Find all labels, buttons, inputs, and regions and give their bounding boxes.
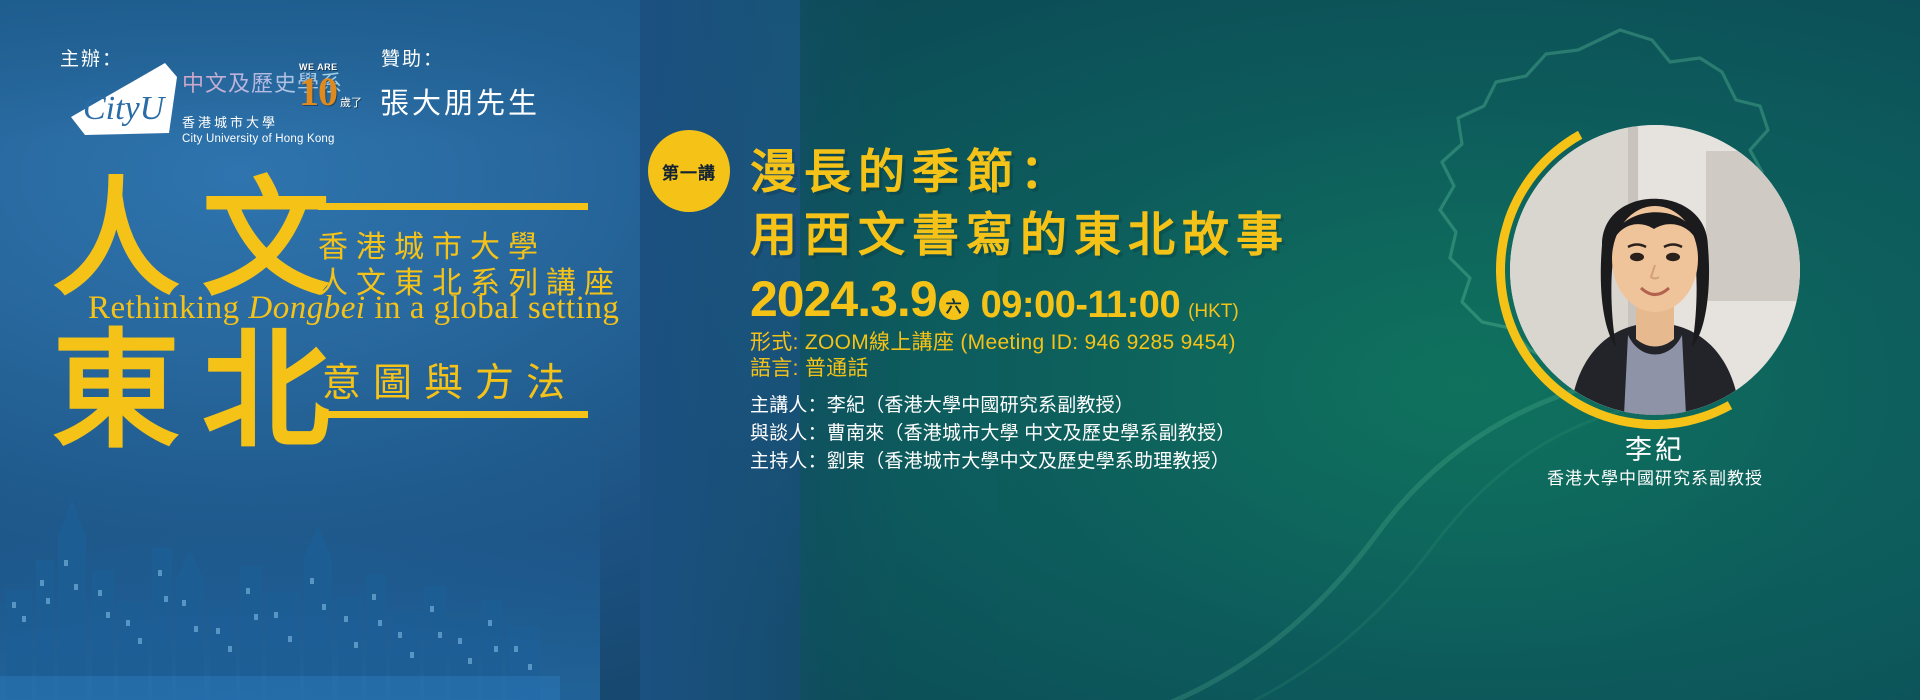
anniversary-number: 10 <box>299 68 337 115</box>
university-name-en: City University of Hong Kong <box>182 133 343 145</box>
event-date: 2024.3.9 <box>750 274 937 324</box>
series-rule-top <box>318 203 588 210</box>
subtitle-pre: Rethinking <box>88 290 248 326</box>
hong-kong-skyline-silhouette <box>0 440 560 700</box>
event-language-line: 語言: 普通話 <box>750 352 869 382</box>
sponsor-label: 贊助： <box>381 44 444 71</box>
event-time: 09:00-11:00 <box>981 286 1180 324</box>
promotional-banner: 主辦： 贊助： 張大朋先生 CityU 中文及歷史學系 香港城市大學 City … <box>0 0 1920 700</box>
cityu-logo-icon: CityU <box>65 55 185 140</box>
portrait-title: 香港大學中國研究系副教授 <box>1487 464 1823 489</box>
date-time-row: 2024.3.9 六 09:00-11:00 (HKT) <box>750 274 1239 324</box>
discussant-line: 與談人：曹南來（香港城市大學 中文及歷史學系副教授） <box>750 418 1235 445</box>
lecture-number-badge: 第一講 <box>648 130 730 212</box>
portrait-photo <box>1510 125 1800 415</box>
weekday-badge: 六 <box>939 290 969 320</box>
svg-text:CityU: CityU <box>83 90 167 127</box>
lecture-title-line2: 用西文書寫的東北故事 <box>750 196 1290 265</box>
method-line: 意圖與方法 <box>322 352 577 408</box>
lecture-number-badge-label: 第一講 <box>662 159 716 184</box>
lecture-title-line1: 漫長的季節： <box>750 133 1074 202</box>
portrait-name: 李紀 <box>1510 428 1800 467</box>
subtitle-italic: Dongbei <box>248 290 365 326</box>
calligraphy-title-line2: 東北 <box>52 328 352 456</box>
sponsor-name: 張大朋先生 <box>380 80 540 122</box>
portrait-circle <box>1510 125 1800 415</box>
speaker-portrait <box>1510 125 1800 415</box>
subtitle-post: in a global setting <box>366 290 620 326</box>
english-subtitle: Rethinking Dongbei in a global setting <box>88 290 619 327</box>
host-line: 主持人：劉東（香港城市大學中文及歷史學系助理教授） <box>750 446 1230 473</box>
series-rule-bottom <box>318 411 588 418</box>
speaker-line: 主講人：李紀（香港大學中國研究系副教授） <box>750 390 1134 417</box>
calligraphy-title-line1: 人文 <box>52 176 352 304</box>
anniversary-suffix: 歲了 <box>340 94 362 110</box>
event-timezone: (HKT) <box>1188 302 1239 321</box>
